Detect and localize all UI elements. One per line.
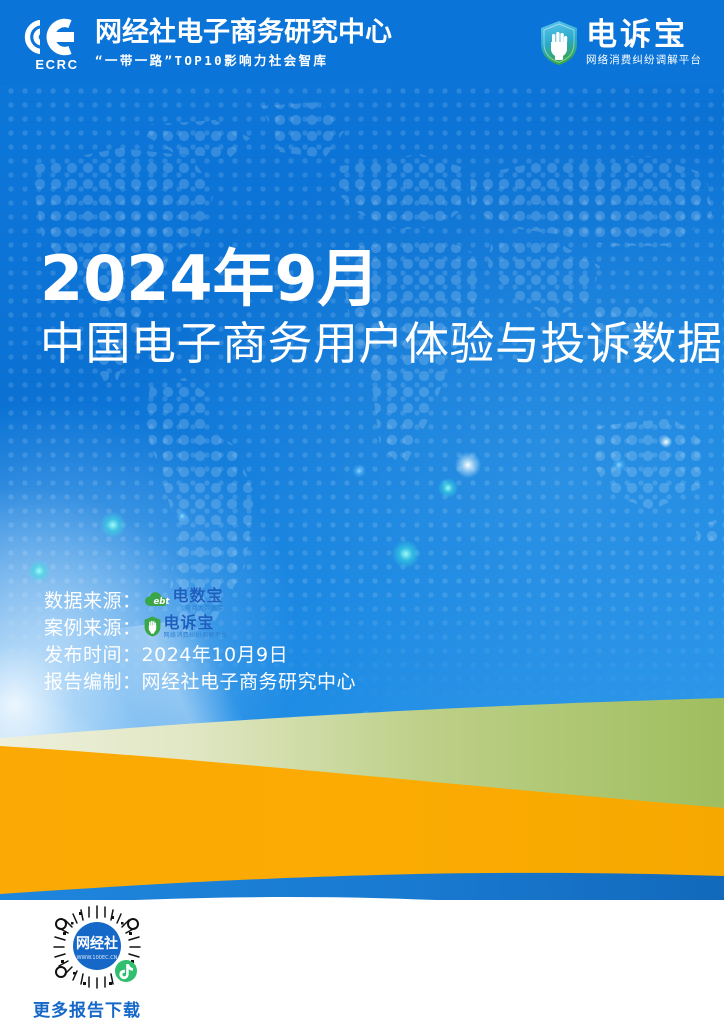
qr-center-sublabel: WWW.100EC.CN — [77, 955, 118, 961]
ecrc-logo: ECRC 网经社电子商务研究中心 “一带一路”TOP10影响力社会智库 — [24, 15, 392, 71]
meta-logo-name: 电诉宝 — [164, 615, 228, 631]
svg-text:ebt: ebt — [153, 597, 170, 607]
ecrc-wordmark: ECRC — [28, 57, 86, 72]
footer-area: 网经社 WWW.100EC.CN 更多报告下载 — [0, 900, 724, 1024]
download-more-reports-label: 更多报告下载 — [12, 996, 162, 1021]
dianshubao-inline-logo: ebt 电数宝 电商大数据库 — [144, 588, 224, 612]
meta-logo-tagline: 网络消费纠纷调解平台 — [164, 633, 228, 639]
report-period-title: 2024年9月 — [40, 246, 724, 311]
report-cover-page: ECRC 网经社电子商务研究中心 “一带一路”TOP10影响力社会智库 — [0, 0, 724, 1024]
qr-download-block[interactable]: 网经社 WWW.100EC.CN 更多报告下载 — [12, 902, 182, 1021]
report-title: 中国电子商务用户体验与投诉数据报告 — [40, 317, 724, 371]
meta-logo-tagline: 电商大数据库 — [173, 606, 224, 612]
dianshubao-brand-tagline: 网络消费纠纷调解平台 — [586, 52, 702, 67]
diansubao-inline-logo: 电诉宝 网络消费纠纷调解平台 — [144, 615, 228, 639]
dianshubao-logo: 电诉宝 网络消费纠纷调解平台 — [539, 20, 708, 67]
meta-value: 2024年10月9日 — [142, 640, 289, 667]
meta-label: 数据来源： — [44, 586, 142, 613]
ecrc-brand-tagline: “一带一路”TOP10影响力社会智库 — [95, 50, 392, 69]
meta-row-publish-date: 发布时间： 2024年10月9日 — [44, 640, 356, 667]
qr-code-icon[interactable]: 网经社 WWW.100EC.CN — [39, 902, 155, 994]
meta-label: 案例来源： — [44, 613, 142, 640]
ecrc-logo-icon: ECRC — [24, 15, 86, 71]
qr-center-label: 网经社 — [76, 935, 118, 952]
meta-logo-name: 电数宝 — [173, 588, 224, 604]
meta-row-data-source: 数据来源： ebt 电数宝 电商大数据库 — [44, 586, 356, 613]
cover-header: ECRC 网经社电子商务研究中心 “一带一路”TOP10影响力社会智库 — [0, 0, 724, 86]
shield-fist-icon — [144, 616, 161, 637]
dianshubao-brand-name: 电诉宝 — [586, 20, 688, 51]
douyin-icon — [115, 960, 137, 982]
cover-title-block: 2024年9月 中国电子商务用户体验与投诉数据报告 — [40, 246, 724, 371]
meta-label: 发布时间： — [44, 640, 142, 667]
cover-meta-block: 数据来源： ebt 电数宝 电商大数据库 案例来源： — [44, 586, 356, 694]
shield-fist-icon — [539, 20, 579, 66]
ecrc-brand-name: 网经社电子商务研究中心 — [95, 19, 392, 47]
cloud-ebt-icon: ebt — [144, 591, 170, 609]
meta-row-case-source: 案例来源： — [44, 613, 356, 640]
